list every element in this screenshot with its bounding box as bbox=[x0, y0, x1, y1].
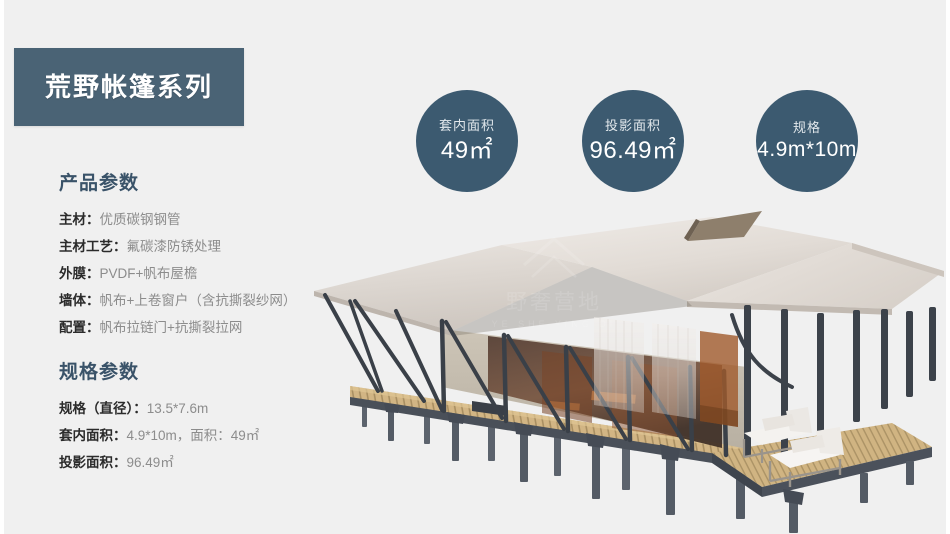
stat-circle-value: 96.49㎡ bbox=[589, 138, 676, 163]
spec-value: 4.9*10m，面积：49㎡ bbox=[127, 428, 260, 443]
stat-circle-label: 套内面积 bbox=[439, 119, 495, 133]
svg-text:野奢营地: 野奢营地 bbox=[506, 291, 602, 314]
spec-key: 套内面积： bbox=[59, 428, 127, 443]
spec-key: 规格（直径）： bbox=[59, 401, 147, 416]
svg-text:YE SHE YING DI: YE SHE YING DI bbox=[492, 319, 617, 329]
product-parameters-heading: 产品参数 bbox=[59, 168, 296, 195]
spec-key: 墙体： bbox=[59, 293, 100, 308]
spec-key: 主材工艺： bbox=[59, 239, 127, 254]
spec-value: 13.5*7.6m bbox=[147, 401, 209, 416]
stat-circle-value: 4.9m*10m bbox=[757, 139, 857, 161]
spec-value: PVDF+帆布屋檐 bbox=[100, 266, 198, 281]
spec-key: 投影面积： bbox=[59, 455, 127, 470]
stat-circle-label: 投影面积 bbox=[605, 119, 661, 133]
spec-value: 帆布拉链门+抗撕裂拉网 bbox=[100, 320, 243, 335]
stat-circle-dimensions: 规格 4.9m*10m bbox=[756, 90, 858, 192]
spec-key: 主材： bbox=[59, 212, 100, 227]
spec-row: 配置：帆布拉链门+抗撕裂拉网 bbox=[59, 314, 296, 341]
stat-circle-value: 49㎡ bbox=[441, 138, 493, 163]
spec-row: 外膜：PVDF+帆布屋檐 bbox=[59, 260, 296, 287]
spec-value: 96.49㎡ bbox=[127, 455, 174, 470]
spec-value: 优质碳钢钢管 bbox=[100, 212, 181, 227]
spec-row: 主材：优质碳钢钢管 bbox=[59, 206, 296, 233]
page-title: 荒野帐篷系列 bbox=[45, 74, 213, 100]
spec-row: 投影面积：96.49㎡ bbox=[59, 449, 259, 476]
spec-parameters-heading: 规格参数 bbox=[59, 357, 259, 384]
spec-key: 外膜： bbox=[59, 266, 100, 281]
tent-render-illustration: 野奢营地 YE SHE YING DI bbox=[292, 205, 950, 534]
stat-circle-label: 规格 bbox=[793, 121, 821, 135]
spec-row: 墙体：帆布+上卷窗户（含抗撕裂纱网） bbox=[59, 287, 296, 314]
product-parameters-block: 产品参数 主材：优质碳钢钢管 主材工艺：氟碳漆防锈处理 外膜：PVDF+帆布屋檐… bbox=[59, 168, 296, 341]
spec-row: 套内面积：4.9*10m，面积：49㎡ bbox=[59, 422, 259, 449]
stat-circle-interior-area: 套内面积 49㎡ bbox=[416, 90, 518, 192]
spec-value: 帆布+上卷窗户（含抗撕裂纱网） bbox=[100, 293, 297, 308]
spec-key: 配置： bbox=[59, 320, 100, 335]
spec-row: 规格（直径）：13.5*7.6m bbox=[59, 395, 259, 422]
spec-row: 主材工艺：氟碳漆防锈处理 bbox=[59, 233, 296, 260]
spec-parameters-block: 规格参数 规格（直径）：13.5*7.6m 套内面积：4.9*10m，面积：49… bbox=[59, 357, 259, 476]
slide-root: 荒野帐篷系列 产品参数 主材：优质碳钢钢管 主材工艺：氟碳漆防锈处理 外膜：PV… bbox=[0, 0, 950, 534]
stat-circle-projected-area: 投影面积 96.49㎡ bbox=[582, 90, 684, 192]
spec-value: 氟碳漆防锈处理 bbox=[127, 239, 222, 254]
title-banner: 荒野帐篷系列 bbox=[14, 48, 244, 126]
